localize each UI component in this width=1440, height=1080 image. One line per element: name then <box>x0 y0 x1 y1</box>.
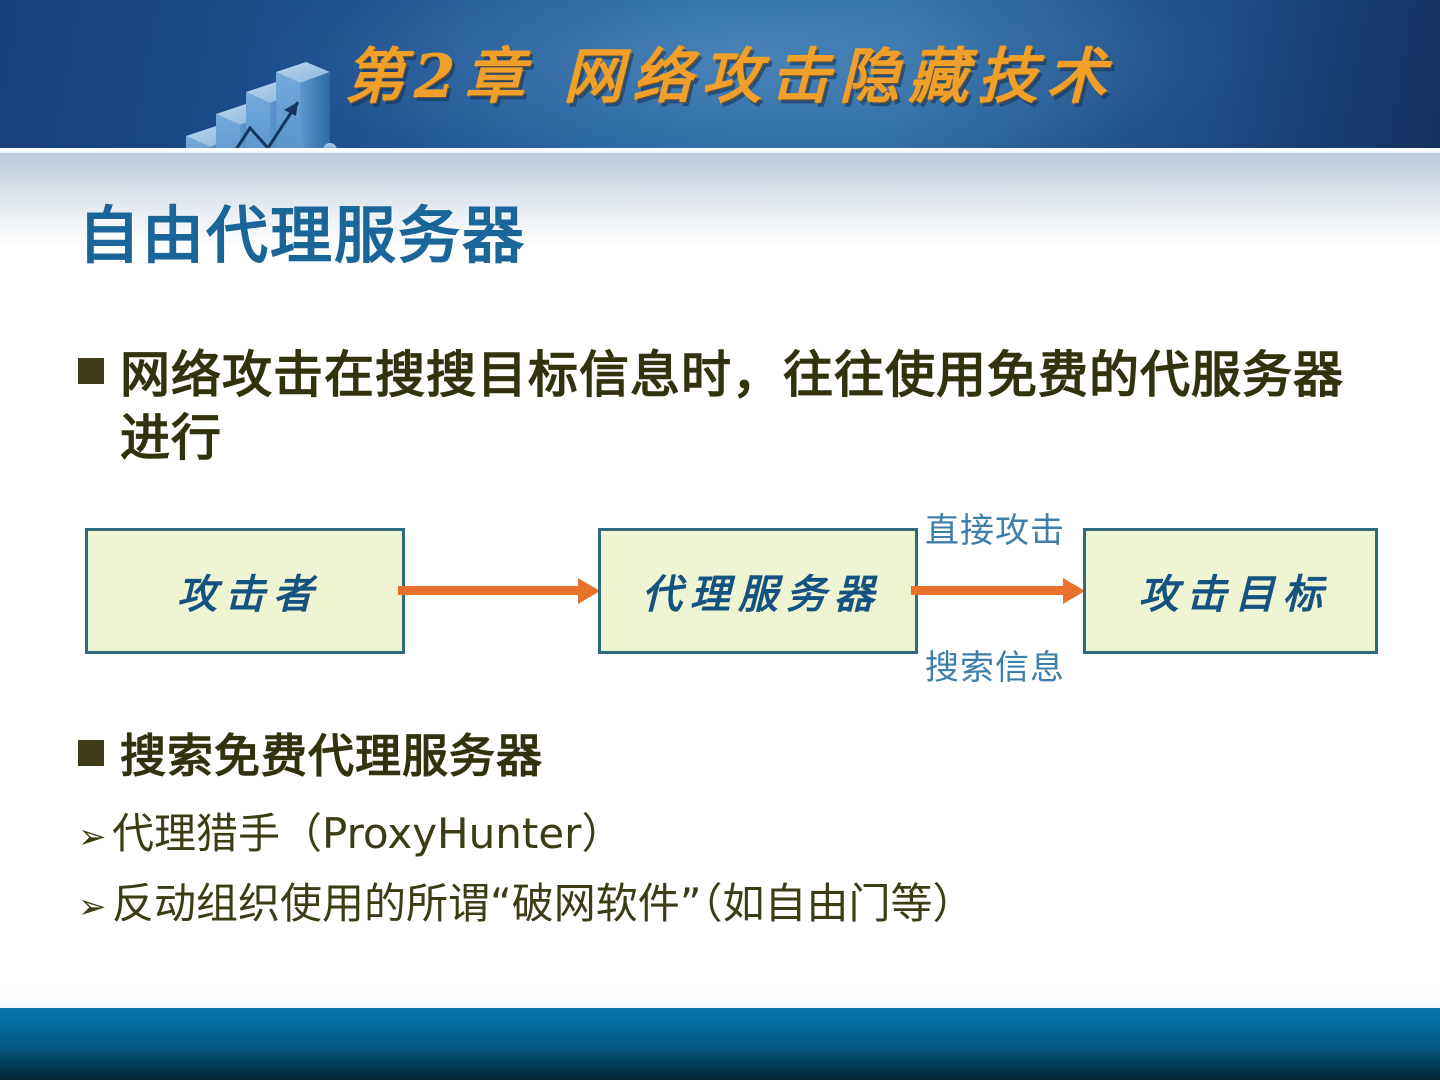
diagram-node-attacker: 攻击者 <box>85 528 405 654</box>
diagram-node-attacker-label: 攻击者 <box>169 562 321 620</box>
diagram-node-proxy: 代理服务器 <box>598 528 918 654</box>
sub-bullet-item-2: ➢ 反动组织使用的所谓“破网软件”（如自由门等） <box>78 870 975 931</box>
footer-fade-gradient <box>0 985 1440 1008</box>
edge-label-search-info: 搜索信息 <box>925 640 1065 689</box>
diagram-node-proxy-label: 代理服务器 <box>634 562 882 620</box>
bullet-item-2: 搜索免费代理服务器 <box>78 729 978 784</box>
arrow-attacker-to-proxy-line <box>398 586 588 595</box>
diagram-node-target-label: 攻击目标 <box>1131 562 1331 620</box>
arrow-proxy-to-target-line <box>911 586 1071 595</box>
sub-bullet-item-1-label: 代理猎手（ProxyHunter） <box>112 800 623 861</box>
slide-canvas: 第2章 网络攻击隐藏技术 自由代理服务器 网络攻击在搜搜目标信息时，往往使用免费… <box>0 0 1440 1080</box>
sub-bullet-item-2-label: 反动组织使用的所谓“破网软件”（如自由门等） <box>112 870 975 931</box>
square-bullet-icon <box>78 740 104 766</box>
footer-band <box>0 1008 1440 1080</box>
arrowhead-bullet-icon: ➢ <box>78 890 112 924</box>
arrowhead-bullet-icon: ➢ <box>78 820 112 854</box>
bullet-item-2-label: 搜索免费代理服务器 <box>120 729 543 784</box>
edge-label-direct-attack: 直接攻击 <box>925 503 1065 552</box>
diagram-node-target: 攻击目标 <box>1083 528 1378 654</box>
sub-bullet-item-1: ➢ 代理猎手（ProxyHunter） <box>78 800 623 861</box>
arrow-attacker-to-proxy-head-icon <box>578 578 600 604</box>
arrow-proxy-to-target-head-icon <box>1063 578 1085 604</box>
